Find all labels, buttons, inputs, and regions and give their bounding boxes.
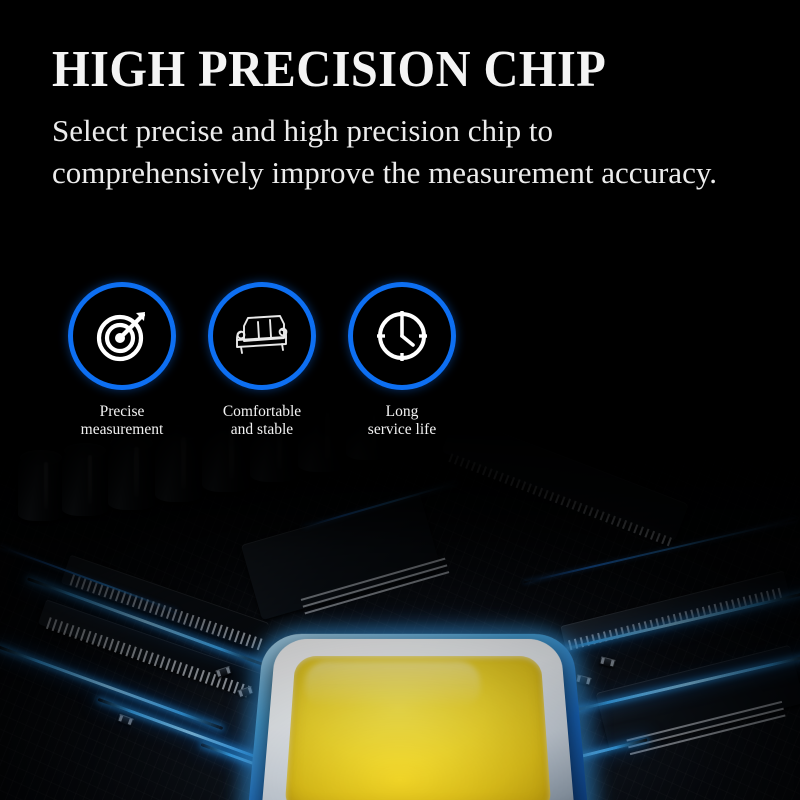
golden-processor-chip: [268, 628, 568, 800]
circuit-board-background: [0, 400, 800, 800]
page-title: HIGH PRECISION CHIP: [52, 42, 703, 98]
page-subtitle: Select precise and high precision chip t…: [52, 110, 764, 194]
chip-highlight: [304, 661, 481, 708]
feature-icon-ring: [208, 282, 316, 390]
feature-label-line1: Precise: [52, 403, 192, 421]
feature-label-line1: Long: [332, 403, 472, 421]
feature-label: Precise measurement: [52, 403, 192, 439]
feature-item-long-service-life: Long service life: [332, 282, 472, 439]
feature-label: Comfortable and stable: [192, 403, 332, 439]
target-icon: [93, 307, 151, 365]
sofa-icon: [232, 310, 292, 362]
feature-item-precise-measurement: Precise measurement: [52, 282, 192, 439]
product-feature-poster: HIGH PRECISION CHIP Select precise and h…: [0, 0, 800, 800]
feature-label-line2: service life: [332, 421, 472, 439]
feature-label: Long service life: [332, 403, 472, 439]
feature-label-line2: measurement: [52, 421, 192, 439]
feature-list: Precise measurement: [52, 282, 472, 442]
clock-icon: [373, 307, 431, 365]
feature-icon-ring: [348, 282, 456, 390]
feature-label-line1: Comfortable: [192, 403, 332, 421]
feature-icon-ring: [68, 282, 176, 390]
chip-bezel: [259, 639, 577, 800]
feature-label-line2: and stable: [192, 421, 332, 439]
feature-item-comfortable-and-stable: Comfortable and stable: [192, 282, 332, 439]
